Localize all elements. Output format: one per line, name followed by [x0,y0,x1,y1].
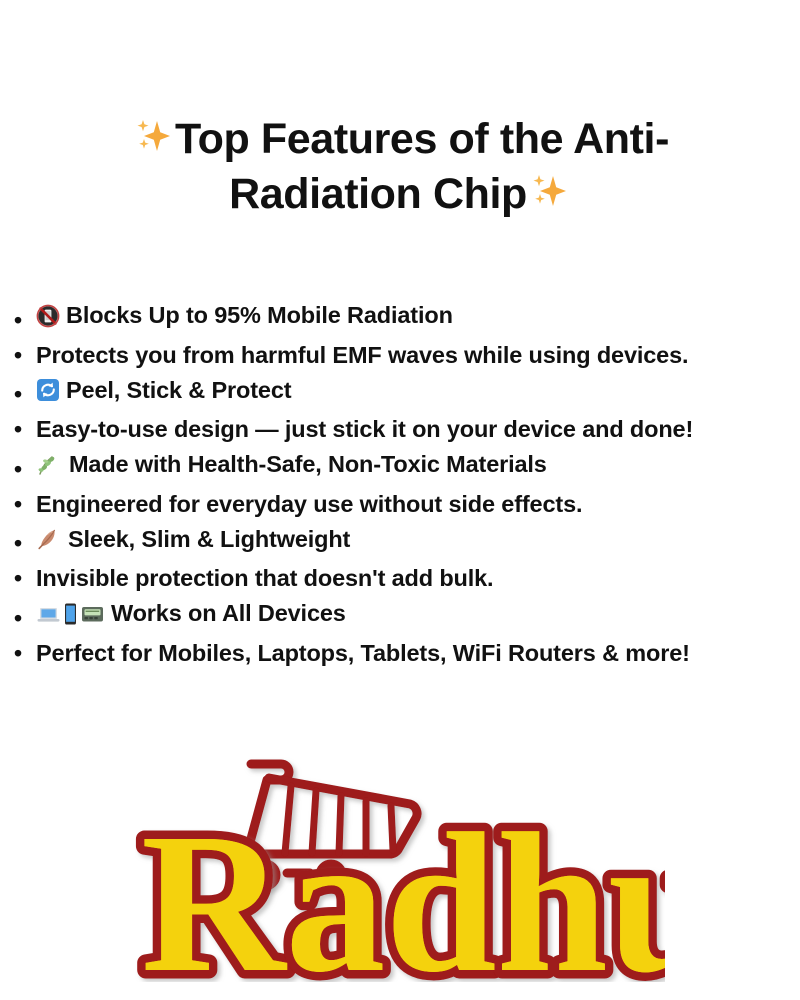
bullet-marker: • [14,303,36,338]
bullet-marker: • [14,636,36,671]
page-title-line2: Chip [433,170,527,218]
list-item: • Peel, Stick & Protect [14,373,800,413]
bullet-marker: • [14,377,36,412]
list-item-label: Engineered for everyday use without side… [36,487,582,522]
no-mobile-phones-icon [36,304,60,328]
list-item-content: Protects you from harmful EMF waves whil… [36,338,688,373]
list-item-label: Sleek, Slim & Lightweight [68,522,350,557]
list-item: • Sleek, Slim & Lightweight [14,522,800,562]
list-item-label: Invisible protection that doesn't add bu… [36,561,493,596]
brand-logo-graphic: Radhu Radhu [135,742,665,982]
list-item: • Engineered for everyday use without si… [14,487,800,522]
mobile-phone-icon [63,602,78,626]
brand-logo: Radhu Radhu [0,742,800,982]
list-item-content: Engineered for everyday use without side… [36,487,582,522]
list-item: • Made with Health-Safe, Non-Toxic Mater… [14,447,800,487]
list-item-content: Blocks Up to 95% Mobile Radiation [36,298,453,333]
bullet-marker: • [14,452,36,487]
page-title-line1: Top Features of the Anti-Radiation [175,115,669,218]
list-item: • [14,596,800,636]
counterclockwise-arrows-icon [36,378,60,402]
sparkles-icon-trailing [529,170,569,210]
list-item: • Easy-to-use design — just stick it on … [14,412,800,447]
poster-page: Top Features of the Anti-Radiation Chip … [0,0,800,1000]
list-item-content: Works on All Devices [36,596,346,631]
list-item-label: Easy-to-use design — just stick it on yo… [36,412,693,447]
pager-icon [80,602,105,626]
bullet-marker: • [14,487,36,522]
list-item-label: Perfect for Mobiles, Laptops, Tablets, W… [36,636,690,671]
list-item: • Protects you from harmful EMF waves wh… [14,338,800,373]
list-item-label: Works on All Devices [111,596,346,631]
list-item-label: Peel, Stick & Protect [66,373,291,408]
bullet-marker: • [14,338,36,373]
bullet-marker: • [14,412,36,447]
bullet-marker: • [14,526,36,561]
list-item: • Blocks Up to 95% Mobile Radiation [14,298,800,338]
list-item-content: Sleek, Slim & Lightweight [36,522,350,557]
list-item-content: Easy-to-use design — just stick it on yo… [36,412,693,447]
list-item-content: Invisible protection that doesn't add bu… [36,561,493,596]
list-item-label: Made with Health-Safe, Non-Toxic Materia… [69,447,547,482]
herb-icon [36,453,60,477]
list-item-label: Blocks Up to 95% Mobile Radiation [66,298,453,333]
laptop-icon [36,602,61,626]
brand-wordmark: Radhu Radhu [141,793,665,982]
list-item: • Invisible protection that doesn't add … [14,561,800,596]
list-item-content: Perfect for Mobiles, Laptops, Tablets, W… [36,636,690,671]
list-item: • Perfect for Mobiles, Laptops, Tablets,… [14,636,800,671]
list-item-label: Protects you from harmful EMF waves whil… [36,338,688,373]
bullet-marker: • [14,601,36,636]
page-title-block: Top Features of the Anti-Radiation Chip [0,0,800,222]
features-list: • Blocks Up to 95% Mobile Radiation • [0,298,800,671]
feather-icon [36,527,60,551]
list-item-content: Made with Health-Safe, Non-Toxic Materia… [36,447,547,482]
svg-text:Radhu: Radhu [141,793,665,982]
sparkles-icon [133,115,173,155]
bullet-marker: • [14,561,36,596]
list-item-content: Peel, Stick & Protect [36,373,291,408]
page-title: Top Features of the Anti-Radiation Chip [35,112,765,222]
